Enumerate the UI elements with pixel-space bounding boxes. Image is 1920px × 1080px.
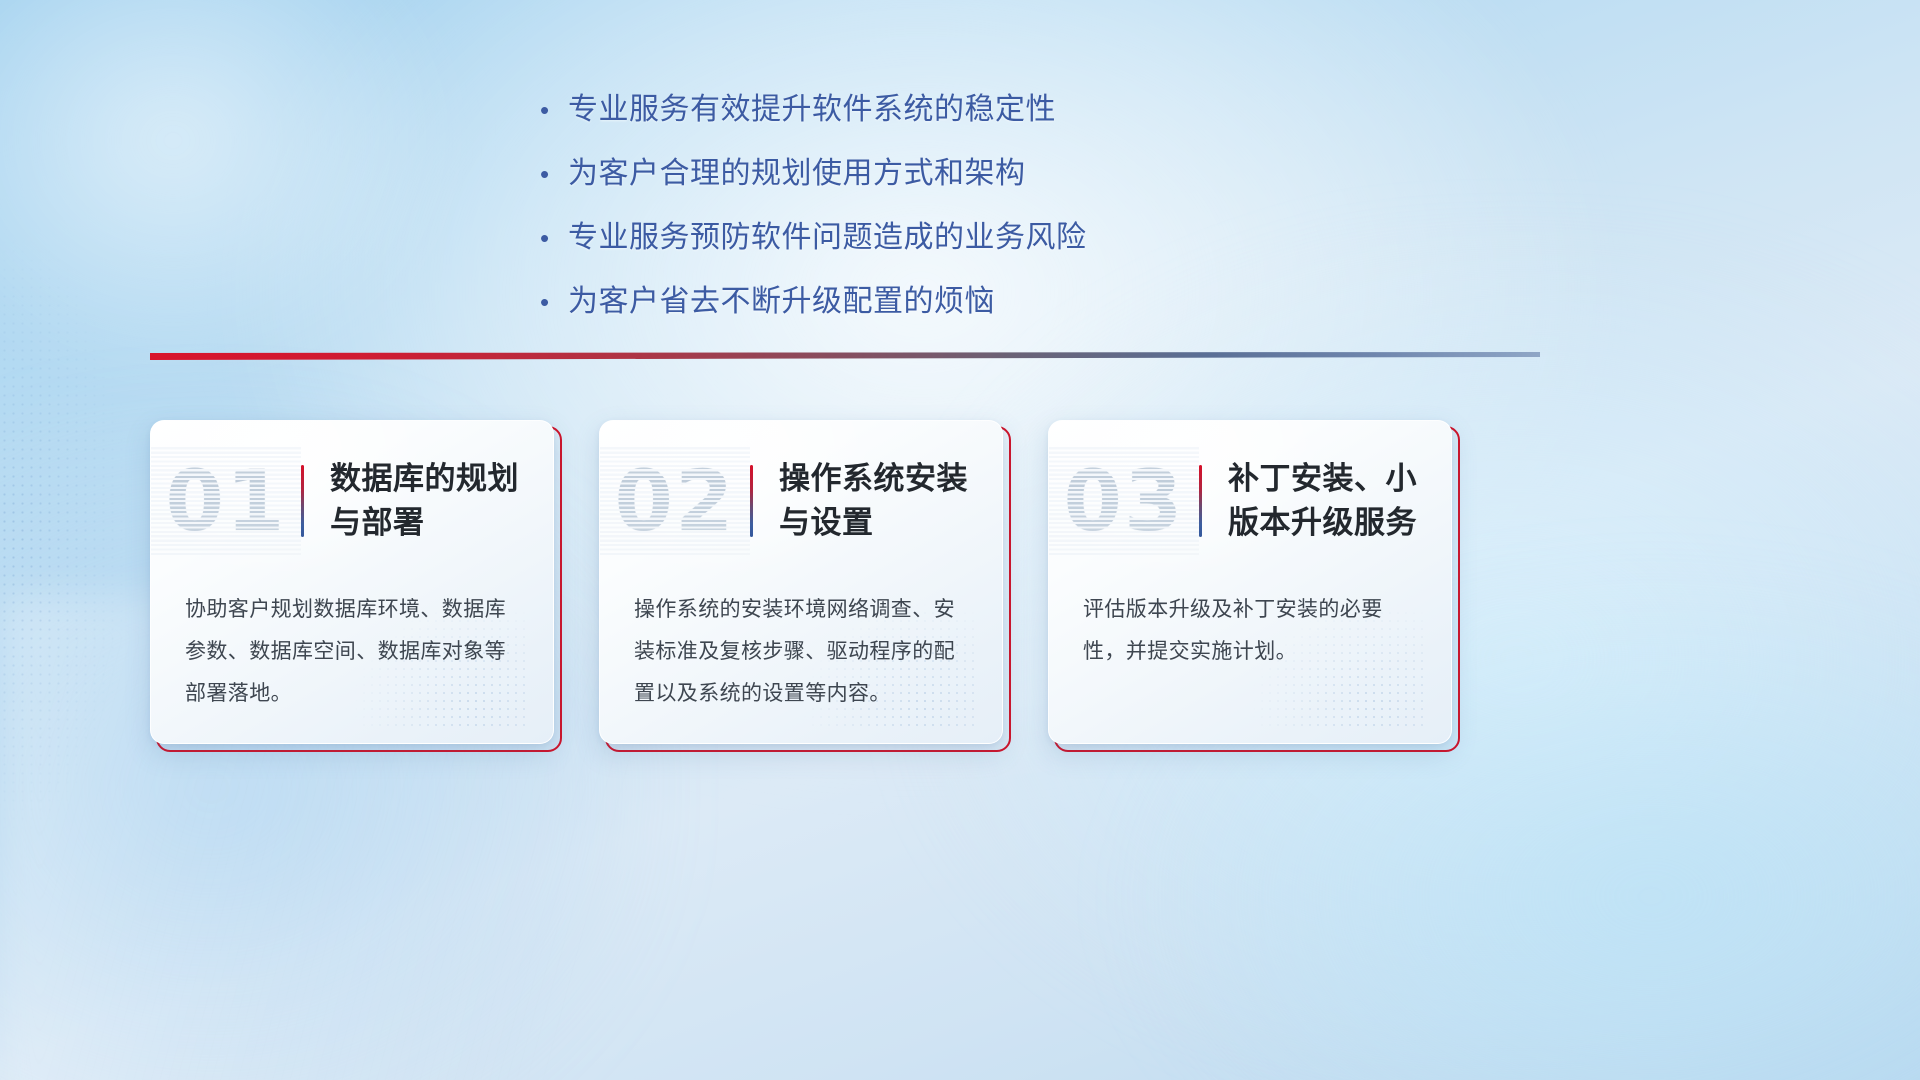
service-card[interactable]: 01 数据库的规划与部署 协助客户规划数据库环境、数据库参数、数据库空间、数据库…	[150, 420, 552, 742]
divider-line	[150, 352, 1540, 360]
list-item: • 为客户合理的规划使用方式和架构	[540, 152, 1300, 196]
card-description: 协助客户规划数据库环境、数据库参数、数据库空间、数据库对象等部署落地。	[185, 589, 525, 715]
card-number-watermark: 02	[600, 445, 750, 557]
bullet-dot-icon: •	[540, 88, 568, 132]
card-title: 操作系统安装与设置	[753, 457, 1002, 545]
service-card-list: 01 数据库的规划与部署 协助客户规划数据库环境、数据库参数、数据库空间、数据库…	[150, 420, 1550, 742]
card-description: 评估版本升级及补丁安装的必要性，并提交实施计划。	[1083, 589, 1423, 673]
list-item: • 专业服务预防软件问题造成的业务风险	[540, 216, 1300, 260]
bullet-text: 专业服务预防软件问题造成的业务风险	[568, 216, 1087, 260]
bullet-dot-icon: •	[540, 280, 568, 324]
card-surface: 02 操作系统安装与设置 操作系统的安装环境网络调查、安装标准及复核步骤、驱动程…	[599, 420, 1003, 744]
card-surface: 01 数据库的规划与部署 协助客户规划数据库环境、数据库参数、数据库空间、数据库…	[150, 420, 554, 744]
benefit-bullet-list: • 专业服务有效提升软件系统的稳定性 • 为客户合理的规划使用方式和架构 • 专…	[540, 88, 1300, 344]
background-dot-texture	[0, 238, 134, 832]
card-surface: 03 补丁安装、小版本升级服务 评估版本升级及补丁安装的必要性，并提交实施计划。	[1048, 420, 1452, 744]
card-number-watermark: 03	[1049, 445, 1199, 557]
bullet-text: 专业服务有效提升软件系统的稳定性	[568, 88, 1056, 132]
card-number-text: 02	[615, 445, 736, 557]
card-title: 补丁安装、小版本升级服务	[1202, 457, 1451, 545]
bullet-dot-icon: •	[540, 152, 568, 196]
bullet-dot-icon: •	[540, 216, 568, 260]
bullet-text: 为客户合理的规划使用方式和架构	[568, 152, 1026, 196]
card-title: 数据库的规划与部署	[304, 457, 553, 545]
section-divider	[150, 352, 1540, 364]
card-number-text: 01	[166, 445, 287, 557]
bullet-text: 为客户省去不断升级配置的烦恼	[568, 280, 995, 324]
service-card[interactable]: 02 操作系统安装与设置 操作系统的安装环境网络调查、安装标准及复核步骤、驱动程…	[599, 420, 1001, 742]
card-header: 03 补丁安装、小版本升级服务	[1049, 441, 1451, 561]
card-header: 02 操作系统安装与设置	[600, 441, 1002, 561]
service-card[interactable]: 03 补丁安装、小版本升级服务 评估版本升级及补丁安装的必要性，并提交实施计划。	[1048, 420, 1450, 742]
list-item: • 为客户省去不断升级配置的烦恼	[540, 280, 1300, 324]
card-number-watermark: 01	[151, 445, 301, 557]
list-item: • 专业服务有效提升软件系统的稳定性	[540, 88, 1300, 132]
card-description: 操作系统的安装环境网络调查、安装标准及复核步骤、驱动程序的配置以及系统的设置等内…	[634, 589, 974, 715]
card-number-text: 03	[1064, 445, 1185, 557]
card-header: 01 数据库的规划与部署	[151, 441, 553, 561]
